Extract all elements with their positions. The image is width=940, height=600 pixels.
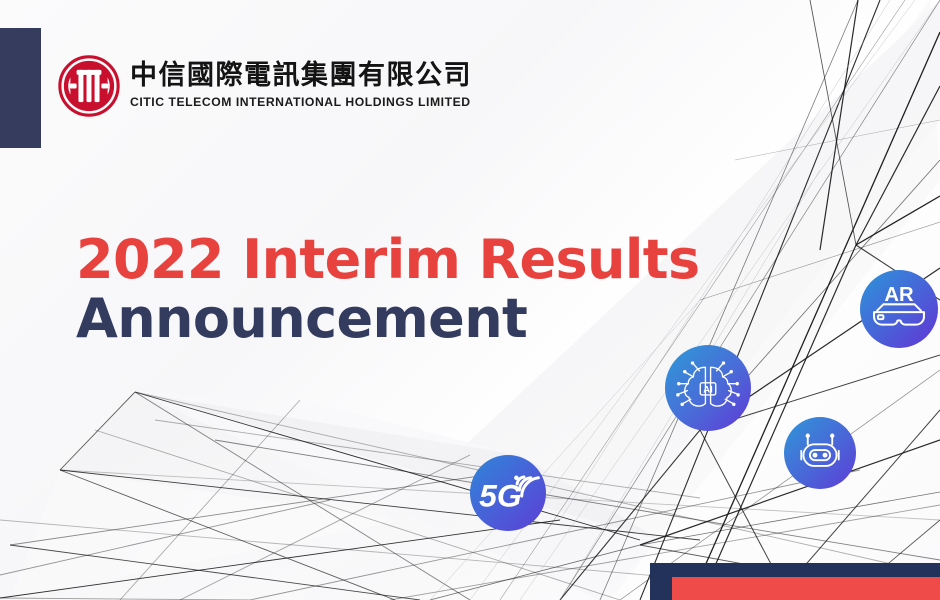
bottom-right-red-block	[672, 577, 940, 600]
title-line-secondary: Announcement	[76, 293, 700, 346]
company-logo-lockup: 中信國際電訊集團有限公司 CITIC TELECOM INTERNATIONAL…	[58, 55, 472, 117]
company-name-zh: 中信國際電訊集團有限公司	[130, 61, 472, 92]
top-left-accent-block	[0, 28, 41, 148]
svg-text:AI: AI	[703, 384, 712, 395]
title-line-primary: 2022 Interim Results	[76, 234, 700, 287]
slide-title: 2022 Interim Results Announcement	[76, 234, 700, 346]
citic-circular-monogram-icon	[58, 55, 120, 117]
5g-icon: 5G	[470, 455, 546, 531]
logo-text-block: 中信國際電訊集團有限公司 CITIC TELECOM INTERNATIONAL…	[130, 61, 472, 110]
ai-brain-icon: AI	[665, 345, 751, 431]
company-name-en: CITIC TELECOM INTERNATIONAL HOLDINGS LIM…	[130, 95, 472, 110]
ar-glasses-icon: AR	[860, 270, 938, 348]
robot-icon	[784, 417, 856, 489]
slide-canvas: 中信國際電訊集團有限公司 CITIC TELECOM INTERNATIONAL…	[0, 0, 940, 600]
svg-text:5G: 5G	[479, 478, 522, 514]
svg-text:AR: AR	[884, 284, 914, 306]
